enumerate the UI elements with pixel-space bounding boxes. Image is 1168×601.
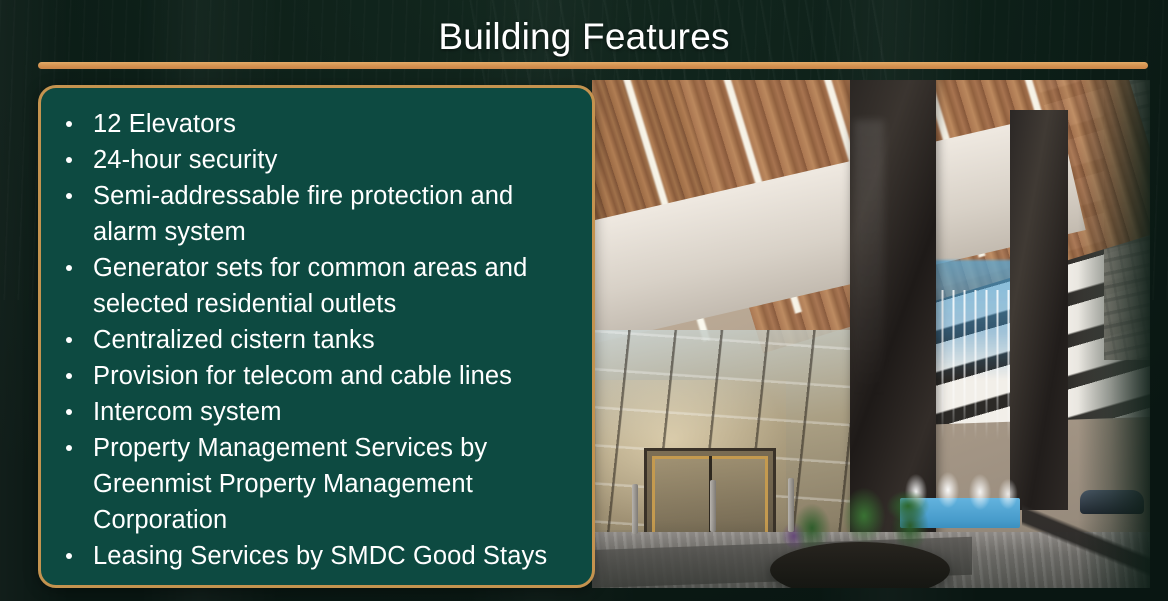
photo-marble-column-sheen (854, 120, 884, 400)
list-item: 24-hour security (53, 142, 574, 178)
list-item: Property Management Services by Greenmis… (53, 430, 574, 538)
photo-bottom-vignette (592, 520, 1150, 588)
features-list: 12 Elevators 24-hour security Semi-addre… (41, 88, 592, 584)
photo-right-vignette (1078, 80, 1150, 588)
list-item: Semi-addressable fire protection and ala… (53, 178, 574, 250)
photo-marble-column-secondary (1010, 110, 1068, 510)
building-entrance-photo (592, 80, 1150, 588)
list-item: Centralized cistern tanks (53, 322, 574, 358)
list-item: Intercom system (53, 394, 574, 430)
slide-root: Building Features 12 Elevators 24-hour s… (0, 0, 1168, 601)
page-title: Building Features (0, 16, 1168, 58)
features-card: 12 Elevators 24-hour security Semi-addre… (38, 85, 595, 588)
list-item: Provision for telecom and cable lines (53, 358, 574, 394)
list-item: Generator sets for common areas and sele… (53, 250, 574, 322)
gold-divider (38, 62, 1148, 69)
list-item: 12 Elevators (53, 106, 574, 142)
list-item: Leasing Services by SMDC Good Stays (53, 538, 574, 574)
